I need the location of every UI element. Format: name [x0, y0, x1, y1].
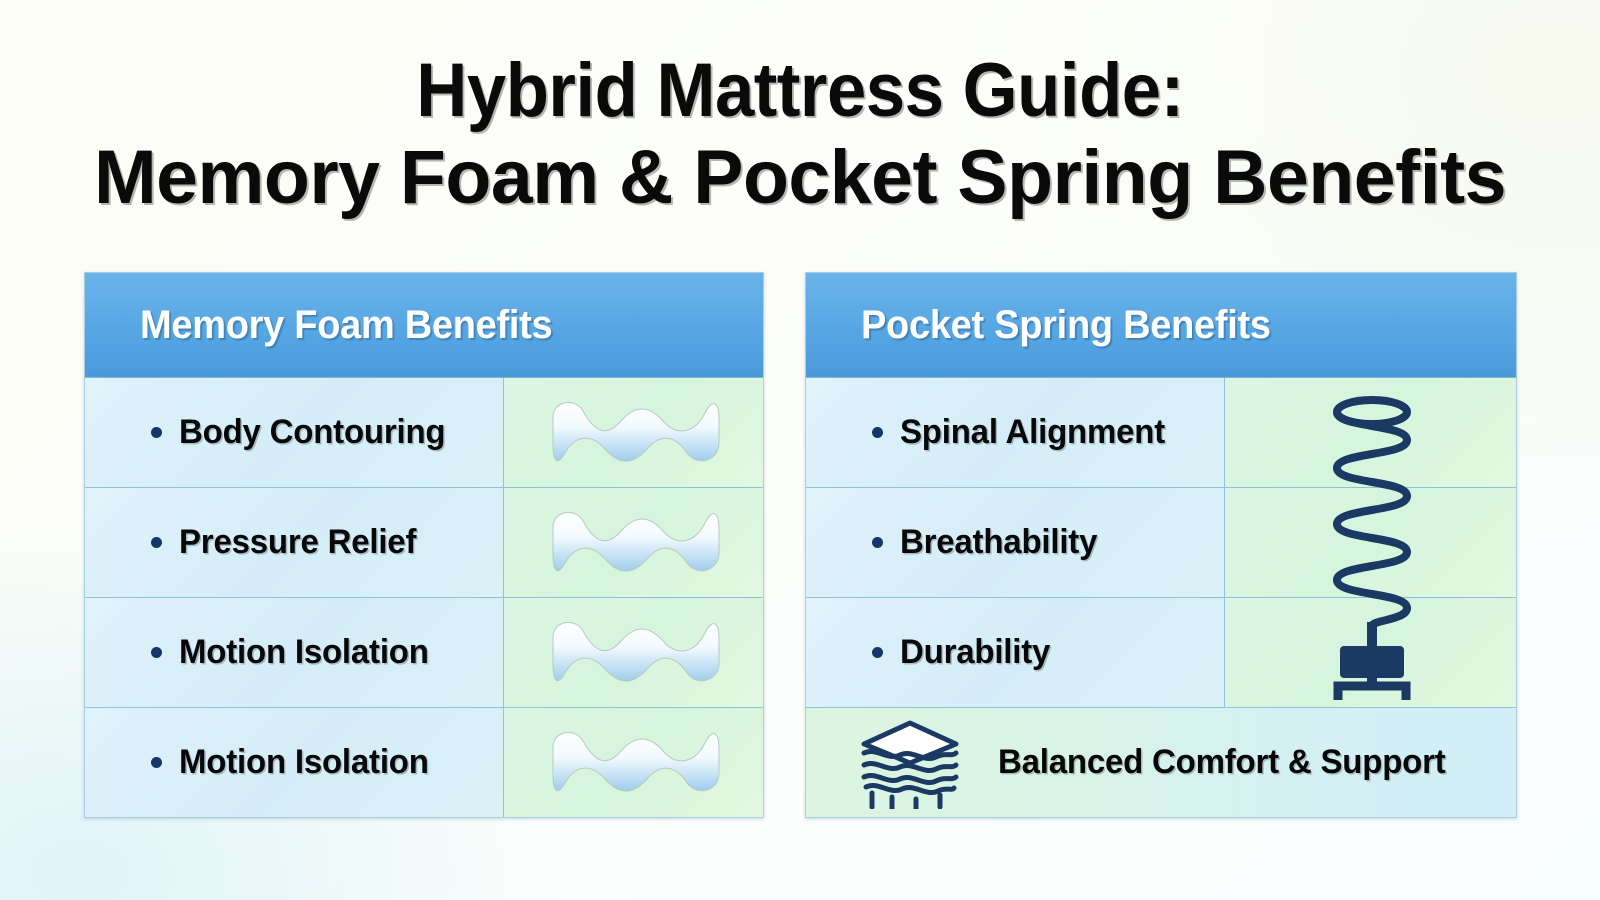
benefit-icon-cell: [1225, 598, 1516, 707]
bullet-icon: [872, 427, 883, 438]
benefit-label: Breathability: [900, 523, 1097, 562]
benefit-label-cell: Motion Isolation: [85, 708, 504, 817]
bullet-icon: [872, 647, 883, 658]
benefit-label-cell: Breathability: [806, 488, 1225, 597]
bullet-icon: [151, 537, 162, 548]
benefit-label-cell: Body Contouring: [85, 378, 504, 487]
title-line-1: Hybrid Mattress Guide:: [56, 48, 1544, 134]
table-row[interactable]: Body Contouring: [85, 378, 763, 488]
benefit-label: Body Contouring: [179, 413, 445, 452]
benefit-icon-cell: [504, 488, 763, 597]
benefit-icon-cell: [504, 708, 763, 817]
foam-wave-icon: [545, 721, 723, 805]
benefit-label: Motion Isolation: [179, 633, 429, 672]
benefit-label-cell: Pressure Relief: [85, 488, 504, 597]
table-row[interactable]: Spinal Alignment: [806, 378, 1516, 488]
table-row[interactable]: Durability: [806, 598, 1516, 708]
benefit-label: Pressure Relief: [179, 523, 416, 562]
benefit-icon-cell: [1225, 378, 1516, 487]
benefit-label-cell: Spinal Alignment: [806, 378, 1225, 487]
table-row[interactable]: Pressure Relief: [85, 488, 763, 598]
pocket-spring-rows: Spinal Alignment Breathability Durabilit…: [806, 378, 1516, 817]
benefit-label-cell: Durability: [806, 598, 1225, 707]
benefit-icon-cell: [1225, 488, 1516, 597]
bullet-icon: [151, 757, 162, 768]
title-line-2: Memory Foam & Pocket Spring Benefits: [8, 134, 1592, 222]
panel-header-label: Pocket Spring Benefits: [861, 303, 1271, 348]
benefit-icon-cell: [504, 598, 763, 707]
benefit-label: Spinal Alignment: [900, 413, 1165, 452]
memory-foam-panel: Memory Foam Benefits Body Contouring: [84, 272, 764, 818]
bullet-icon: [872, 537, 883, 548]
memory-foam-panel-header: Memory Foam Benefits: [85, 273, 763, 378]
panel-header-label: Memory Foam Benefits: [140, 303, 552, 348]
bullet-icon: [151, 647, 162, 658]
benefit-label: Durability: [900, 633, 1050, 672]
page-title: Hybrid Mattress Guide: Memory Foam & Poc…: [0, 48, 1600, 222]
pocket-spring-panel-header: Pocket Spring Benefits: [806, 273, 1516, 378]
bullet-icon: [151, 427, 162, 438]
benefit-icon-cell: [504, 378, 763, 487]
foam-wave-icon: [545, 391, 723, 475]
table-row[interactable]: Breathability: [806, 488, 1516, 598]
table-row[interactable]: Motion Isolation: [85, 598, 763, 708]
foam-wave-icon: [545, 501, 723, 585]
pocket-spring-panel: Pocket Spring Benefits Spinal Alignment …: [805, 272, 1517, 818]
foam-wave-icon: [545, 611, 723, 695]
balanced-comfort-label: Balanced Comfort & Support: [998, 743, 1446, 782]
mattress-stack-icon: [854, 717, 966, 809]
benefit-label: Motion Isolation: [179, 743, 429, 782]
memory-foam-rows: Body Contouring: [85, 378, 763, 817]
balanced-comfort-row[interactable]: Balanced Comfort & Support: [806, 708, 1516, 817]
table-row[interactable]: Motion Isolation: [85, 708, 763, 817]
benefit-label-cell: Motion Isolation: [85, 598, 504, 707]
